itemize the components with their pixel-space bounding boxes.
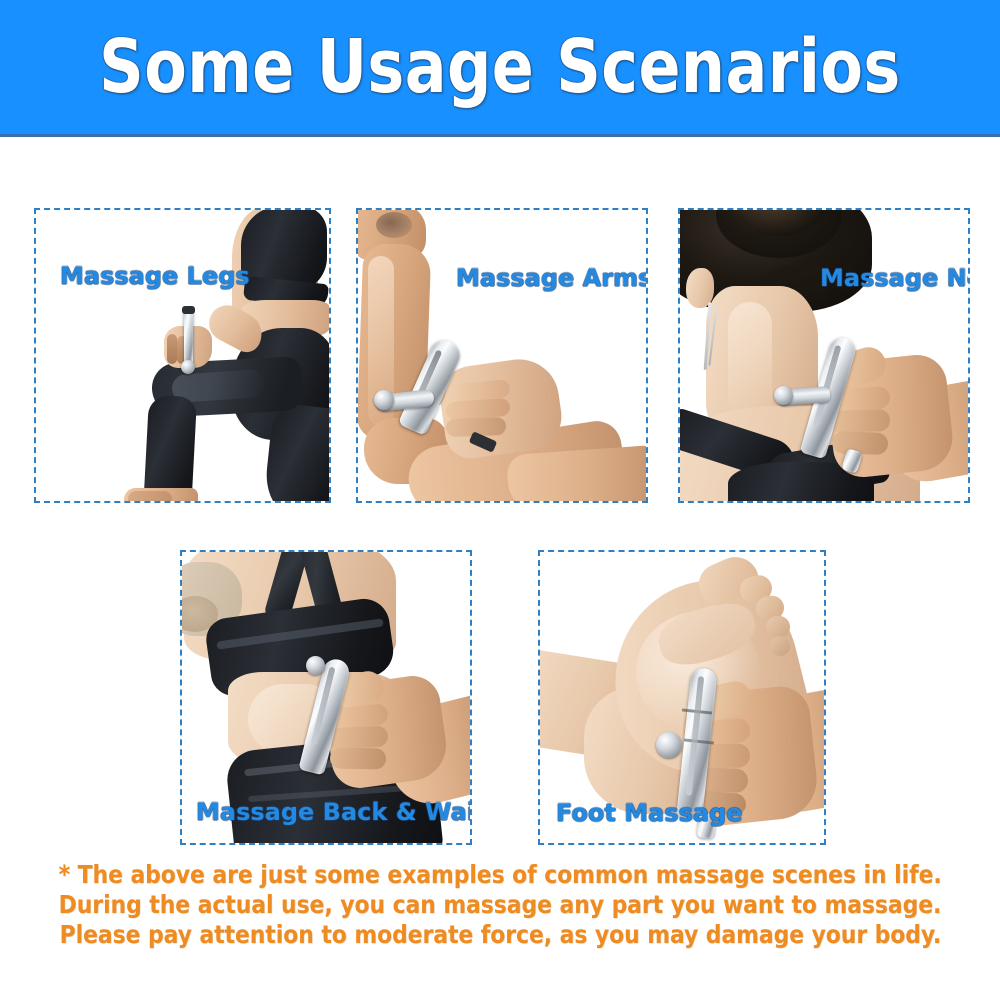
- footer-line-3: Please pay attention to moderate force, …: [59, 920, 941, 950]
- scenario-tile-foot-massage: Foot Massage: [538, 550, 826, 845]
- scenario-tile-massage-arms: Massage Arms: [356, 208, 648, 503]
- scenario-tile-massage-legs: Massage Legs: [34, 208, 331, 503]
- photo-massage-arms: [358, 210, 646, 501]
- tile-label-foot-massage: Foot Massage: [556, 800, 743, 826]
- photo-massage-legs: [36, 210, 329, 501]
- tile-label-massage-neck: Massage Neck: [820, 265, 970, 291]
- tile-label-massage-back-waist: Massage Back & Waist: [196, 799, 472, 825]
- scenario-tile-massage-back-waist: Massage Back & Waist: [180, 550, 472, 845]
- footer-line-2: During the actual use, you can massage a…: [59, 890, 942, 920]
- scenario-tile-massage-neck: Massage Neck: [678, 208, 970, 503]
- footer-line-1: * The above are just some examples of co…: [58, 860, 941, 890]
- page-title: Some Usage Scenarios: [99, 28, 901, 106]
- footer-disclaimer: * The above are just some examples of co…: [0, 860, 1000, 960]
- tile-label-massage-legs: Massage Legs: [60, 263, 250, 289]
- tile-label-massage-arms: Massage Arms: [456, 265, 648, 291]
- header-banner: Some Usage Scenarios: [0, 0, 1000, 137]
- photo-massage-neck: [680, 210, 968, 501]
